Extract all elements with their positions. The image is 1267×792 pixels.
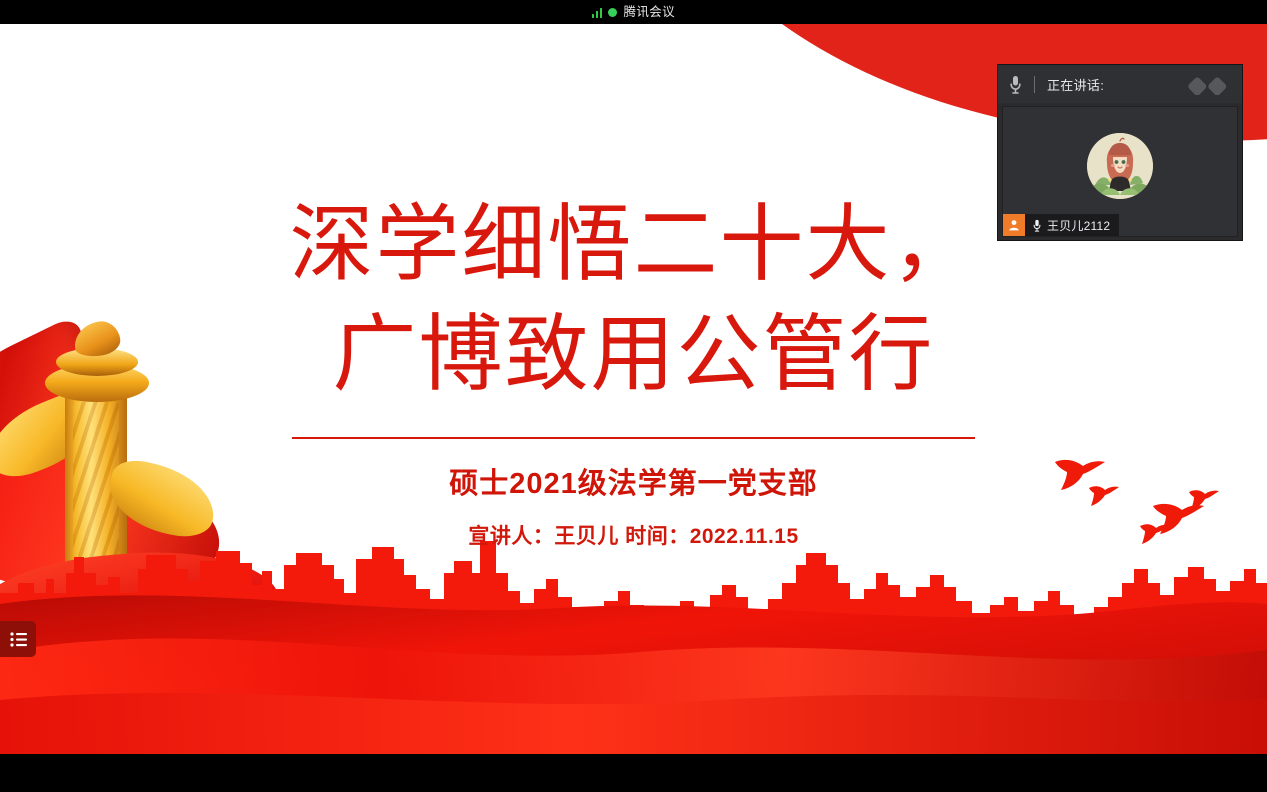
app-bar-title: 腾讯会议: [623, 0, 675, 24]
tencent-meeting-logo-icon: [1188, 74, 1234, 95]
host-person-icon: [1003, 214, 1025, 236]
microphone-icon: [1032, 219, 1042, 232]
list-menu-button[interactable]: [0, 621, 36, 657]
header-divider: [1034, 76, 1035, 93]
speaking-status-label: 正在讲话:: [1047, 75, 1104, 94]
video-panel[interactable]: 正在讲话:: [997, 64, 1243, 241]
app-bar: 腾讯会议: [0, 0, 1267, 24]
signal-bars-icon: [592, 7, 603, 18]
status-dot-icon: [608, 8, 617, 17]
red-silk-waves-icon: [0, 574, 1267, 754]
video-stage[interactable]: 王贝儿2112: [1002, 106, 1238, 237]
list-menu-icon: [10, 632, 27, 647]
participant-name: 王贝儿2112: [1047, 217, 1110, 234]
party-branch-subtitle: 硕士2021级法学第一党支部: [0, 460, 1267, 502]
title-divider: [292, 437, 975, 439]
microphone-icon[interactable]: [1008, 75, 1023, 94]
page-title-line-2: 广博致用公管行: [0, 299, 1267, 409]
slide-headline-block: 深学细悟二十大， 广博致用公管行 硕士2021级法学第一党支部 宣讲人：王贝儿 …: [0, 189, 1267, 550]
avatar: [1087, 133, 1153, 199]
video-panel-header: 正在讲话:: [998, 65, 1242, 103]
presenter-and-date: 宣讲人：王贝儿 时间：2022.11.15: [0, 520, 1267, 550]
bottom-letterbox: [0, 754, 1267, 792]
participant-name-chip: 王贝儿2112: [1003, 214, 1119, 236]
